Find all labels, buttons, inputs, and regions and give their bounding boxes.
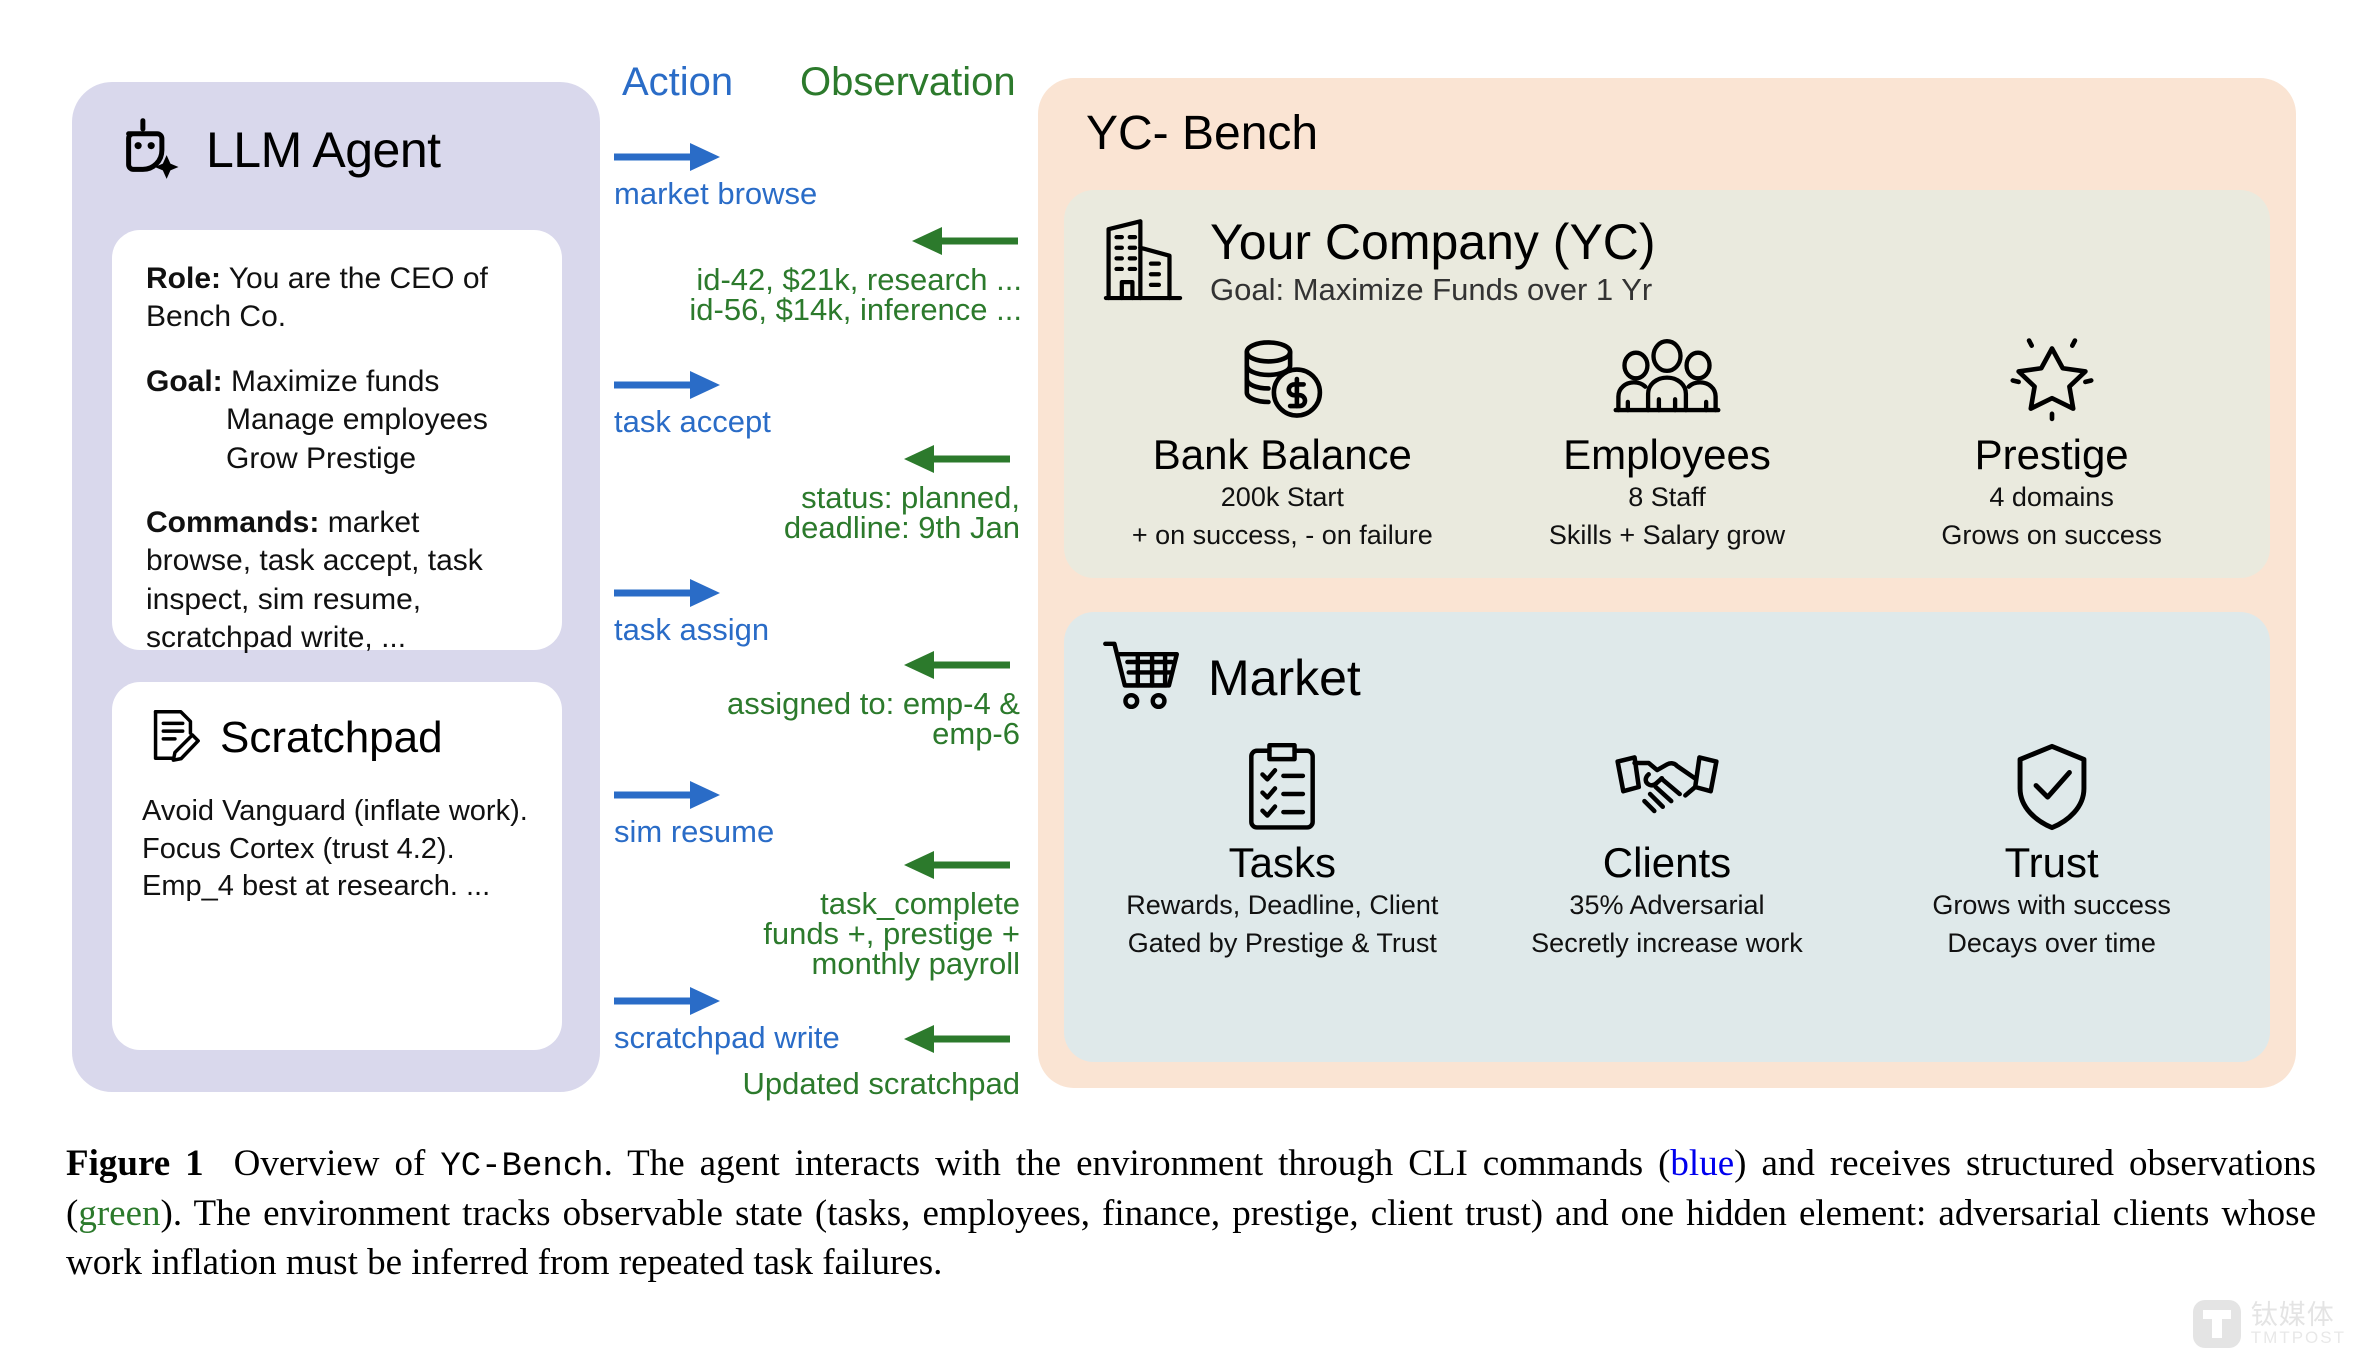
yc-bench-panel: YC- Bench Your Company (YC) Goal: M [1038,78,2296,1088]
scratchpad-body: Avoid Vanguard (inflate work). Focus Cor… [142,793,532,906]
llm-agent-panel: LLM Agent Role: You are the CEO of Bench… [72,82,600,1092]
scratchpad-line: Emp_4 best at research. ... [142,868,532,906]
metric-name: Employees [1477,433,1858,477]
action-arrow-icon [612,778,722,812]
star-sparkle-icon [1861,333,2242,425]
agent-commands-line: Commands: market browse, task accept, ta… [146,504,528,658]
observation-arrow-icon [902,648,1012,682]
note-pencil-icon [142,704,204,771]
your-company-goal: Goal: Maximize Funds over 1 Yr [1210,272,1656,308]
caption-benchmark-name: YC-Bench [440,1148,603,1186]
market-header: Market [1064,612,2270,719]
metric-name: Clients [1477,841,1858,885]
scratchpad-line: Focus Cortex (trust 4.2). [142,831,532,869]
metric-sub: 200k Start [1092,481,1473,515]
caption-part-4: ). The environment tracks observable sta… [66,1193,2316,1283]
metric-name: Tasks [1092,841,1473,885]
action-label: task accept [614,404,771,440]
coins-dollar-icon [1092,333,1473,425]
caption-blue-word: blue [1670,1143,1734,1184]
agent-prompt-card: Role: You are the CEO of Bench Co. Goal:… [112,230,562,650]
observation-header: Observation [800,60,1016,105]
agent-commands-label: Commands: [146,506,319,539]
scratchpad-line: Avoid Vanguard (inflate work). [142,793,532,831]
scratchpad-title: Scratchpad [220,713,443,763]
llm-agent-header: LLM Agent [72,82,600,192]
metric-employees: Employees 8 Staff Skills + Salary grow [1477,333,1858,553]
observation-arrow-icon [910,224,1020,258]
your-company-heading-text: Your Company (YC) Goal: Maximize Funds o… [1210,216,1656,308]
action-arrow-icon [612,368,722,402]
action-label: scratchpad write [614,1020,840,1056]
metric-prestige: Prestige 4 domains Grows on success [1861,333,2242,553]
observation-label: Updated scratchpad [632,1066,1020,1103]
action-arrow-icon [612,576,722,610]
metric-sub: Grows on success [1861,519,2242,553]
metric-name: Trust [1861,841,2242,885]
tmtpost-logo-icon [2193,1300,2241,1348]
caption-green-word: green [78,1193,160,1234]
office-building-icon [1100,216,1186,311]
observation-label: id-56, $14k, inference ... [632,292,1022,329]
scratchpad-header: Scratchpad [142,704,532,771]
observation-arrow-icon [902,442,1012,476]
watermark-en-text: TMTPOST [2251,1329,2346,1346]
agent-role-line: Role: You are the CEO of Bench Co. [146,260,528,337]
metric-name: Prestige [1861,433,2242,477]
action-header: Action [622,60,733,105]
agent-goal-label: Goal: [146,365,223,398]
observation-label: deadline: 9th Jan [632,510,1020,547]
your-company-title: Your Company (YC) [1210,216,1656,268]
robot-sparkle-icon [112,110,188,191]
metric-bank-balance: Bank Balance 200k Start + on success, - … [1092,333,1473,553]
your-company-header: Your Company (YC) Goal: Maximize Funds o… [1064,190,2270,311]
metric-sub: Decays over time [1861,927,2242,961]
yc-bench-title: YC- Bench [1086,106,1318,161]
metric-sub: 35% Adversarial [1477,889,1858,923]
figure-caption: Figure 1 Overview of YC-Bench. The agent… [66,1140,2316,1288]
agent-goal-line: Goal: Maximize funds Manage employees Gr… [146,363,528,478]
metric-sub: Secretly increase work [1477,927,1858,961]
metric-name: Bank Balance [1092,433,1473,477]
metric-sub: 8 Staff [1477,481,1858,515]
clipboard-checklist-icon [1092,741,1473,833]
figure-label: Figure 1 [66,1143,204,1184]
shield-check-icon [1861,741,2242,833]
action-arrow-icon [612,984,722,1018]
tmtpost-watermark: 钛媒体 TMTPOST [2193,1300,2346,1348]
tmtpost-wordmark: 钛媒体 TMTPOST [2251,1302,2346,1346]
llm-agent-title: LLM Agent [206,121,441,179]
metric-sub: Grows with success [1861,889,2242,923]
agent-goal-line-3: Grow Prestige [146,440,528,478]
observation-arrow-icon [902,1022,1012,1056]
action-arrow-icon [612,140,722,174]
caption-part-1: Overview of [234,1143,441,1184]
action-label: task assign [614,612,769,648]
handshake-icon [1477,741,1858,833]
agent-goal-line-1: Maximize funds [231,365,439,398]
scratchpad-card: Scratchpad Avoid Vanguard (inflate work)… [112,682,562,1050]
figure-1-overview: LLM Agent Role: You are the CEO of Bench… [0,0,2374,1362]
observation-label: monthly payroll [632,946,1020,983]
market-metrics-row: Tasks Rewards, Deadline, Client Gated by… [1064,719,2270,961]
agent-role-label: Role: [146,262,221,295]
observation-label: emp-6 [632,716,1020,753]
action-observation-column: Action Observation market browse id-42, … [612,60,1032,1100]
your-company-card: Your Company (YC) Goal: Maximize Funds o… [1064,190,2270,578]
action-label: market browse [614,176,817,212]
company-metrics-row: Bank Balance 200k Start + on success, - … [1064,311,2270,553]
metric-sub: Skills + Salary grow [1477,519,1858,553]
observation-arrow-icon [902,848,1012,882]
flow-headers: Action Observation [612,60,1032,118]
people-group-icon [1477,333,1858,425]
caption-part-2: . The agent interacts with the environme… [604,1143,1671,1184]
watermark-cn-text: 钛媒体 [2251,1302,2346,1329]
metric-sub: Gated by Prestige & Trust [1092,927,1473,961]
metric-trust: Trust Grows with success Decays over tim… [1861,741,2242,961]
metric-tasks: Tasks Rewards, Deadline, Client Gated by… [1092,741,1473,961]
market-card: Market Tasks Rewa [1064,612,2270,1062]
shopping-cart-icon [1100,636,1186,719]
metric-sub: + on success, - on failure [1092,519,1473,553]
metric-sub: 4 domains [1861,481,2242,515]
metric-sub: Rewards, Deadline, Client [1092,889,1473,923]
metric-clients: Clients 35% Adversarial Secretly increas… [1477,741,1858,961]
market-title: Market [1208,649,1361,707]
agent-goal-line-2: Manage employees [146,401,528,439]
action-label: sim resume [614,814,774,850]
